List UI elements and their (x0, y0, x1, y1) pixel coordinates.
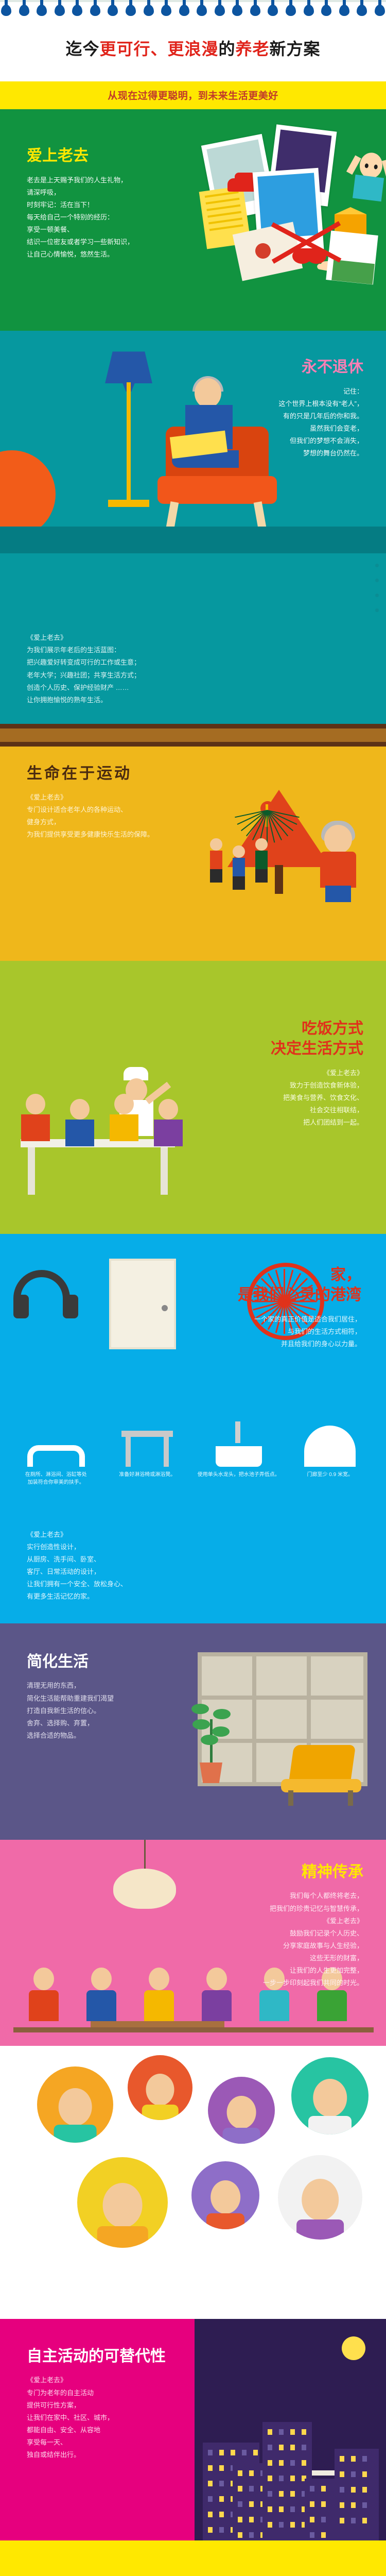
portrait-circle (77, 2157, 168, 2248)
bulb-icon (19, 0, 29, 16)
window-icon (208, 2450, 213, 2455)
bulb-icon (268, 0, 278, 16)
header: 迄今更可行、更浪漫的养老新方案 从现在过得更聪明，到未来生活更美好 (0, 0, 386, 109)
window-icon (231, 2450, 235, 2455)
window-icon (290, 2522, 295, 2528)
doorway-icon (288, 1411, 373, 1467)
title-run: 养老 (236, 40, 270, 58)
window-icon (290, 2476, 295, 2481)
window-icon (268, 2429, 272, 2435)
face-illustration (54, 2089, 97, 2143)
section-mobility-alternatives: 自主活动的可替代性 《爱上老去》专门为老年的自主活动提供可行性方案，让我们在家中… (0, 2319, 386, 2540)
section-life-in-motion: 生命在于运动 《爱上老去》专门设计适合老年人的各种运动、健身方式，为我们提供享受… (0, 724, 386, 961)
exercising-person-icon (255, 838, 269, 883)
window-icon (268, 2506, 272, 2512)
home-tip-item: 准备好淋浴椅或淋浴凳。 (102, 1406, 194, 1496)
section-text: 精神传承 我们每个人都终将老去，把我们的珍贵记忆与智慧传承，《爱上老去》鼓励我们… (165, 1840, 386, 1989)
window-icon (321, 2486, 326, 2492)
window-icon (242, 2450, 247, 2455)
home-tip-item: 在厕所、淋浴间、浴缸等处加装符合你审美的扶手。 (10, 1406, 102, 1496)
shower-chair-icon (105, 1411, 190, 1467)
window-icon (238, 2532, 242, 2538)
home-tips-grid: 在厕所、淋浴间、浴缸等处加装符合你审美的扶手。准备好淋浴椅或淋浴凳。使用单头水龙… (0, 1399, 386, 1511)
window-icon (279, 2491, 284, 2497)
home-tip-caption: 使用单头水龙头，把水池子弄低点。 (196, 1471, 282, 1479)
portrait-circle (128, 2055, 192, 2120)
section-heading: 爱上老去 (27, 146, 216, 166)
face-illustration (142, 2075, 179, 2120)
section-body: 清理无用的东西，简化生活能帮助重建我们渴望打造自我新生活的信心。舍弃、选择购、弃… (27, 1680, 170, 1741)
portrait-circle (37, 2066, 113, 2143)
face-illustration (206, 2182, 244, 2229)
home-tip-caption: 在厕所、淋浴间、浴缸等处加装符合你审美的扶手。 (13, 1471, 99, 1486)
baby-illustration (346, 147, 386, 201)
section-heading: 永不退休 (144, 358, 363, 377)
lounge-chair-illustration (271, 1745, 363, 1807)
title-run: 的 (218, 40, 235, 58)
window-icon (219, 2512, 224, 2517)
portrait-circle (291, 2057, 369, 2134)
window-icon (290, 2491, 295, 2497)
section-body: 《爱上老去》为我们展示年老后的生活蓝图：把兴趣爱好转变成可行的工作或生意；老年大… (27, 632, 386, 706)
window-icon (290, 2460, 295, 2466)
bulb-icon (321, 0, 331, 16)
window-icon (310, 2532, 314, 2538)
window-icon (321, 2517, 326, 2522)
potted-plant-icon (190, 1701, 232, 1783)
portrait-circle (278, 2155, 362, 2240)
window-icon (310, 2517, 314, 2522)
window-icon (362, 2471, 367, 2477)
home-tip-caption: 门廊至少 0.9 米宽。 (288, 1471, 373, 1479)
bulb-icon (304, 0, 314, 16)
portrait-circle (191, 2161, 259, 2229)
window-icon (340, 2456, 344, 2462)
window-icon (362, 2456, 367, 2462)
infographic-page: 迄今更可行、更浪漫的养老新方案 从现在过得更聪明，到未来生活更美好 (0, 0, 386, 2576)
section-body: 老去是上天赐予我们的人生礼物，请深呼吸，时刻牢记：活在当下！每天给自己一个特别的… (27, 174, 216, 261)
home-tip-caption: 准备好淋浴椅或淋浴凳。 (105, 1471, 190, 1479)
heading-line-1: 吃饭方式 (302, 1020, 363, 1037)
section-portrait-circles (0, 2046, 386, 2319)
bulb-icon (215, 0, 225, 16)
window-icon (310, 2501, 314, 2507)
bulb-icon (1, 0, 11, 16)
section-body: 我们每个人都终将老去，把我们的珍贵记忆与智慧传承，《爱上老去》鼓励我们记录个人历… (165, 1890, 363, 1989)
window-icon (310, 2486, 314, 2492)
section-eating-lifestyle: 吃饭方式 决定生活方式 《爱上老去》致力于创造饮食新体验，把美食与营养、饮食文化… (0, 961, 386, 1234)
title-run: 迄今 (65, 40, 99, 58)
section-heading: 吃饭方式 决定生活方式 (144, 1019, 363, 1059)
shelf-column (363, 1652, 367, 1786)
section-heading: 精神传承 (165, 1862, 363, 1882)
window-icon (290, 2445, 295, 2450)
floor-band (0, 527, 386, 553)
window-icon (253, 2450, 258, 2455)
window-icon (208, 2527, 213, 2533)
window-icon (249, 2501, 254, 2507)
window-icon (362, 2502, 367, 2508)
face-illustration (97, 2184, 148, 2248)
window-icon (302, 2445, 306, 2450)
plant-leaf-icon (212, 1726, 230, 1737)
section-simplify-life: 简化生活 清理无用的东西，简化生活能帮助重建我们渴望打造自我新生活的信心。舍弃、… (0, 1623, 386, 1840)
window-icon (249, 2517, 254, 2522)
window-icon (268, 2476, 272, 2481)
window-icon (238, 2501, 242, 2507)
dot-decoration (375, 552, 379, 619)
shelf-row (198, 1652, 367, 1656)
window-icon (290, 2429, 295, 2435)
face-illustration (223, 2097, 260, 2144)
bulb-icon (90, 0, 100, 16)
window-icon (351, 2487, 356, 2493)
home-tip-item: 使用单头水龙头，把水池子弄低点。 (193, 1406, 285, 1496)
window-icon (249, 2486, 254, 2492)
family-member-icon (26, 1968, 62, 2021)
window-icon (362, 2518, 367, 2523)
grab-bar-icon (13, 1411, 99, 1467)
window-icon (279, 2506, 284, 2512)
plant-leaf-icon (213, 1709, 231, 1719)
section-text: 爱上老去 老去是上天赐予我们的人生礼物，请深呼吸，时刻牢记：活在当下！每天给自己… (0, 109, 216, 261)
diner-person-icon (62, 1099, 98, 1146)
section-body: 《爱上老去》专门设计适合老年人的各种运动、健身方式，为我们提供享受更多健康快乐生… (27, 791, 247, 841)
bulb-icon (37, 0, 47, 16)
window-icon (351, 2518, 356, 2523)
window-icon (219, 2527, 224, 2533)
window-icon (279, 2429, 284, 2435)
portrait-circle (208, 2077, 275, 2144)
window-icon (340, 2518, 344, 2523)
plant-leaf-icon (201, 1735, 218, 1745)
page-title: 迄今更可行、更浪漫的养老新方案 (0, 18, 386, 81)
section-text: 永不退休 记住：这个世界上根本没有“老人”，有的只是几年后的你和我。虽然我们会变… (144, 331, 386, 460)
headphones-icon (13, 1270, 75, 1327)
window-icon (208, 2512, 213, 2517)
title-run: 新方案 (270, 40, 321, 58)
window-icon (249, 2532, 254, 2538)
window-icon (219, 2481, 224, 2486)
face-illustration (296, 2180, 344, 2240)
section-body: 一个家的真正价值是适合我们居住，与我们的生活方式相符，并且给我们的身心以力量。 (98, 1313, 361, 1350)
section-heading: 家， 是我们心灵的港湾 (98, 1265, 361, 1305)
window-icon (268, 2445, 272, 2450)
window-icon (279, 2476, 284, 2481)
ring-handle-icon (196, 1411, 282, 1467)
family-member-icon (83, 1968, 119, 2021)
bulb-icon (55, 0, 65, 16)
bulb-icon (144, 0, 154, 16)
window-icon (208, 2481, 213, 2486)
section-never-retire: 永不退休 记住：这个世界上根本没有“老人”，有的只是几年后的你和我。虽然我们会变… (0, 331, 386, 619)
section-body: 《爱上老去》专门为老年的自主活动提供可行性方案，让我们在家中、社区、城市，都能自… (27, 2374, 170, 2461)
bulb-icon (357, 0, 367, 16)
section-note-blueprint: 《爱上老去》为我们展示年老后的生活蓝图：把兴趣爱好转变成可行的工作或生意；老年大… (0, 619, 386, 723)
sun-circle-decoration (0, 450, 56, 538)
building-icon (305, 2479, 338, 2540)
red-ribbon-icon (268, 204, 345, 281)
window-icon (351, 2502, 356, 2508)
bulb-icon (108, 0, 118, 16)
section-text: 吃饭方式 决定生活方式 《爱上老去》致力于创造饮食新体验，把美食与营养、饮食文化… (144, 961, 386, 1129)
section-heading: 生命在于运动 (27, 764, 247, 784)
section-note-design: 《爱上老去》实行创造性设计，从厨房、洗手间、卧室、客厅、日常活动的设计，让我们拥… (0, 1511, 386, 1623)
window-icon (238, 2470, 242, 2476)
section-body: 《爱上老去》实行创造性设计，从厨房、洗手间、卧室、客厅、日常活动的设计，让我们拥… (27, 1529, 386, 1603)
moon-icon (342, 2336, 365, 2360)
section-heading: 简化生活 (27, 1652, 170, 1672)
bulb-icon (179, 0, 189, 16)
bulb-icon (72, 0, 82, 16)
window-icon (268, 2460, 272, 2466)
window-icon (279, 2522, 284, 2528)
window-icon (321, 2501, 326, 2507)
exercise-people-group (210, 838, 277, 905)
bulb-icon (161, 0, 171, 16)
window-icon (219, 2496, 224, 2502)
plant-leaf-icon (191, 1704, 209, 1714)
diner-person-icon (17, 1094, 54, 1141)
window-icon (321, 2532, 326, 2538)
section-text: 简化生活 清理无用的东西，简化生活能帮助重建我们渴望打造自我新生活的信心。舍弃、… (0, 1623, 170, 1742)
window-icon (290, 2506, 295, 2512)
window-icon (340, 2471, 344, 2477)
window-icon (351, 2471, 356, 2477)
bulb-icon (197, 0, 207, 16)
heading-line-2: 决定生活方式 (271, 1040, 363, 1057)
bulb-icon (375, 0, 385, 16)
window-icon (268, 2491, 272, 2497)
heading-line-1: 家， (330, 1266, 361, 1283)
window-icon (302, 2460, 306, 2466)
window-icon (279, 2445, 284, 2450)
bulb-garland (0, 0, 386, 19)
window-icon (340, 2487, 344, 2493)
window-icon (238, 2517, 242, 2522)
section-love-aging: 爱上老去 老去是上天赐予我们的人生礼物，请深呼吸，时刻牢记：活在当下！每天给自己… (0, 109, 386, 331)
section-body: 记住：这个世界上根本没有“老人”，有的只是几年后的你和我。虽然我们会变老，但我们… (144, 385, 363, 460)
window-icon (302, 2429, 306, 2435)
section-body: 《爱上老去》致力于创造饮食新体验，把美食与营养、饮食文化、社会交往相联结，把人们… (144, 1067, 363, 1129)
heading-line-2: 是我们心灵的港湾 (238, 1286, 361, 1303)
window-icon (249, 2470, 254, 2476)
window-icon (219, 2450, 224, 2455)
window-icon (208, 2496, 213, 2502)
window-icon (279, 2460, 284, 2466)
bulb-icon (232, 0, 242, 16)
section-home-harbor: 家， 是我们心灵的港湾 一个家的真正价值是适合我们居住，与我们的生活方式相符，并… (0, 1234, 386, 1511)
section-spiritual-legacy: 精神传承 我们每个人都终将老去，把我们的珍贵记忆与智慧传承，《爱上老去》鼓励我们… (0, 1840, 386, 2046)
window-icon (340, 2502, 344, 2508)
title-run: 更可行、更浪漫 (99, 40, 218, 58)
plant-leaf-icon (192, 1719, 210, 1730)
building-icon (335, 2449, 379, 2540)
page-subtitle: 从现在过得更聪明，到未来生活更美好 (0, 81, 386, 109)
shelf-column (252, 1652, 256, 1786)
window-icon (362, 2487, 367, 2493)
window-icon (268, 2522, 272, 2528)
section-activity-wheel (0, 2540, 386, 2576)
window-icon (351, 2456, 356, 2462)
shelf-row (198, 1696, 367, 1700)
bulb-icon (126, 0, 136, 16)
window-icon (208, 2465, 213, 2471)
exercising-person-icon (233, 845, 246, 890)
bulb-icon (286, 0, 296, 16)
window-icon (238, 2486, 242, 2492)
bulb-icon (339, 0, 349, 16)
section-text: 生命在于运动 《爱上老去》专门设计适合老年人的各种运动、健身方式，为我们提供享受… (0, 724, 247, 841)
section-text: 家， 是我们心灵的港湾 一个家的真正价值是适合我们居住，与我们的生活方式相符，并… (98, 1234, 386, 1350)
bulb-icon (250, 0, 260, 16)
photo-collage-illustration (206, 127, 376, 297)
home-tip-item: 门廊至少 0.9 米宽。 (285, 1406, 376, 1496)
night-city-illustration (195, 2319, 386, 2540)
elderly-woman-illustration (312, 825, 365, 902)
window-icon (219, 2465, 224, 2471)
exercising-person-icon (210, 838, 223, 883)
section-text: 自主活动的可替代性 《爱上老去》专门为老年的自主活动提供可行性方案，让我们在家中… (0, 2319, 170, 2461)
section-heading: 自主活动的可替代性 (27, 2347, 170, 2366)
diner-person-icon (106, 1094, 142, 1141)
face-illustration (308, 2080, 352, 2134)
